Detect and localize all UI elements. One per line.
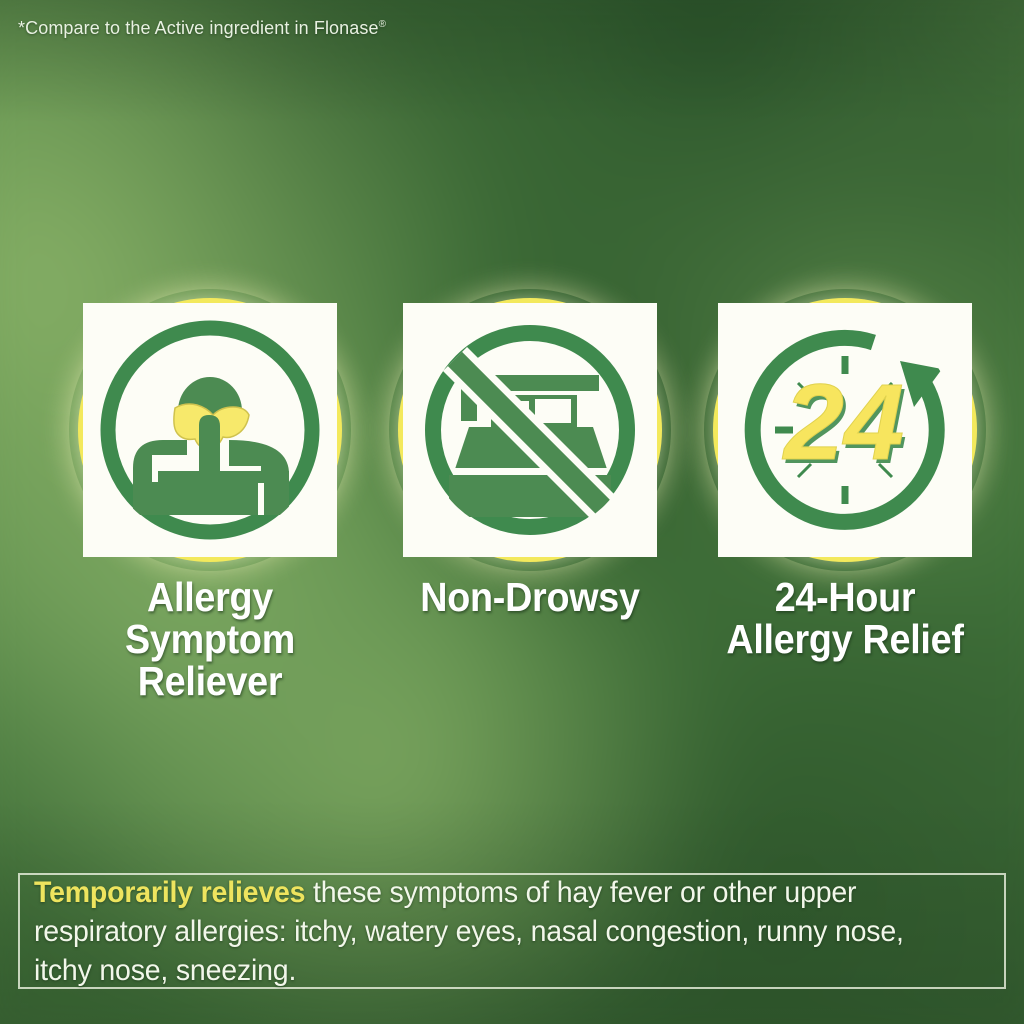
badge-24-hour-relief: 24 24 24-Hour Allergy Relief (716, 303, 974, 661)
24-hour-clock-icon: 24 24 (718, 303, 972, 557)
badge-allergy-symptom-reliever: Allergy Symptom Reliever (81, 303, 339, 702)
compare-disclaimer-text: *Compare to the Active ingredient in Flo… (18, 18, 379, 38)
sneezing-person-icon (83, 303, 337, 557)
badge-ring-1 (83, 303, 337, 557)
caption-highlight: Temporarily relieves (34, 876, 305, 909)
no-bed-non-drowsy-icon (403, 303, 657, 557)
compare-disclaimer: *Compare to the Active ingredient in Flo… (18, 18, 386, 39)
indications-caption-box: Temporarily relieves these symptoms of h… (18, 873, 1006, 989)
product-claim-banner: *Compare to the Active ingredient in Flo… (0, 0, 1024, 1024)
indications-caption-text: Temporarily relieves these symptoms of h… (34, 873, 942, 990)
clock-number: 24 (782, 361, 904, 482)
registered-trademark-icon: ® (379, 19, 386, 30)
benefit-badges-row: Allergy Symptom Reliever (0, 303, 1024, 703)
badge-label-2: Non-Drowsy (411, 577, 648, 619)
badge-ring-2 (403, 303, 657, 557)
badge-ring-3: 24 24 (718, 303, 972, 557)
badge-label-1: Allergy Symptom Reliever (91, 577, 328, 702)
badge-label-3: 24-Hour Allergy Relief (726, 577, 963, 661)
badge-non-drowsy: Non-Drowsy (401, 303, 659, 619)
